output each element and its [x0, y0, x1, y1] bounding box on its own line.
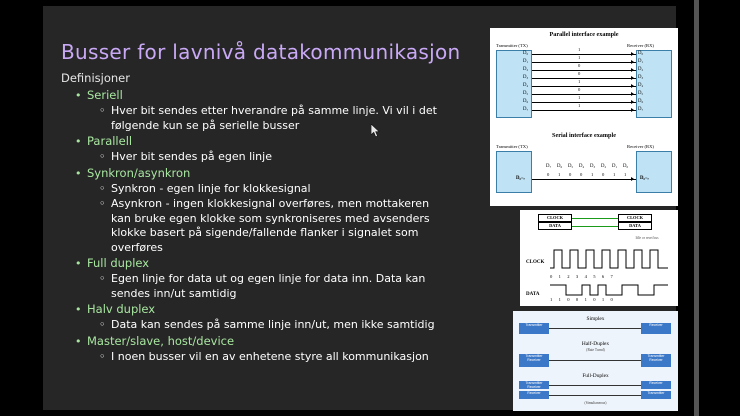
halfduplex-title: Half-Duplex: [513, 341, 678, 347]
bullet-list: Seriell Hver bit sendes etter hverandre …: [61, 88, 451, 365]
list-item: Synkron/asynkron: [61, 166, 451, 181]
idle-note: Idle or reset bus: [624, 236, 670, 240]
clock-box-right-top: CLOCK: [618, 214, 652, 222]
data-link-line: [572, 226, 618, 227]
simplex-left-node: Transmitter: [519, 323, 549, 334]
serial-wire-arrow: [631, 177, 634, 181]
halfduplex-left-node: Transmitter Receiver: [519, 354, 549, 367]
list-item: I noen busser vil en av enhetene styre a…: [61, 350, 451, 365]
list-item: Synkron - egen linje for klokkesignal: [61, 182, 451, 197]
data-bit-values: 1 1 0 0 1 0 1 0: [550, 297, 670, 302]
serial-rx-label: Receiver (RX): [627, 144, 654, 149]
list-item: Hver bit sendes etter hverandre på samme…: [61, 104, 451, 133]
figure-duplex-modes: Simplex Transmitter Receiver Half-Duplex…: [513, 311, 678, 411]
serial-tx-pin: D₀₋₇: [516, 176, 525, 181]
serial-wire: [532, 179, 636, 180]
clock-box-right-bottom: DATA: [618, 222, 652, 230]
halfduplex-right-node: Transmitter Receiver: [641, 354, 671, 367]
slide-subtitle: Definisjoner: [61, 71, 130, 85]
data-waveform: [550, 282, 670, 298]
parallel-tx-label: Transmitter (TX): [496, 43, 528, 48]
clock-link-line: [572, 218, 618, 219]
clock-waveform: [550, 246, 670, 272]
right-black-bar: [676, 0, 740, 416]
simplex-right-node: Receiver: [641, 323, 671, 334]
data-signal-label: DATA: [526, 292, 539, 297]
list-item: Data kan sendes på samme linje inn/ut, m…: [61, 318, 451, 333]
serial-rx-box: [636, 151, 672, 193]
fullduplex-arrow-in: [549, 395, 641, 396]
serial-rx-pin: D₀₋₇: [640, 176, 649, 181]
fullduplex-title: Full-Duplex: [513, 373, 678, 379]
list-item: Seriell: [61, 88, 451, 103]
fullduplex-note: (Simultaneous): [513, 401, 678, 405]
halfduplex-note: (Rate Turnd): [513, 348, 678, 352]
clock-counter-digits: 0 1 2 3 4 5 6 7: [550, 274, 670, 279]
fullduplex-left-rx: Receiver: [519, 391, 549, 399]
serial-tx-label: Transmitter (TX): [496, 144, 528, 149]
fullduplex-right-rx: Receiver: [641, 381, 671, 389]
slide-content: Busser for lavnivå datakommunikasjon Def…: [43, 6, 676, 410]
parallel-figure-title: Parallel interface example: [490, 31, 678, 38]
fullduplex-arrow-out: [549, 385, 641, 386]
serial-figure-title: Serial interface example: [490, 132, 678, 139]
page-title: Busser for lavnivå datakommunikasjon: [61, 40, 461, 64]
list-item: Asynkron - ingen klokkesignal overføres,…: [61, 197, 451, 255]
serial-tx-box: [496, 151, 532, 193]
list-item: Master/slave, host/device: [61, 334, 451, 349]
simplex-title: Simplex: [513, 316, 678, 322]
parallel-rx-label: Receiver (RX): [627, 43, 654, 48]
figure-interfaces: Parallel interface example Transmitter (…: [490, 28, 678, 206]
scrollbar-strip[interactable]: [694, 0, 699, 416]
clock-box-left-top: CLOCK: [538, 214, 572, 222]
list-item: Full duplex: [61, 256, 451, 271]
fullduplex-right-tx: Transmitter: [641, 391, 671, 399]
list-item: Parallell: [61, 134, 451, 149]
list-item: Hver bit sendes på egen linje: [61, 150, 451, 165]
figure-clock-timing: CLOCK DATA CLOCK DATA CLOCK DATA Idle or…: [520, 210, 678, 306]
halfduplex-arrow: [549, 360, 641, 361]
fullduplex-left-tx: Transmitter Receiver: [519, 381, 549, 389]
clock-box-left-bottom: DATA: [538, 222, 572, 230]
list-item: Egen linje for data ut og egen linje for…: [61, 272, 451, 301]
clock-signal-label: CLOCK: [526, 260, 544, 265]
list-item: Halv duplex: [61, 302, 451, 317]
simplex-arrow: [549, 328, 641, 329]
screen: Busser for lavnivå datakommunikasjon Def…: [0, 0, 740, 416]
